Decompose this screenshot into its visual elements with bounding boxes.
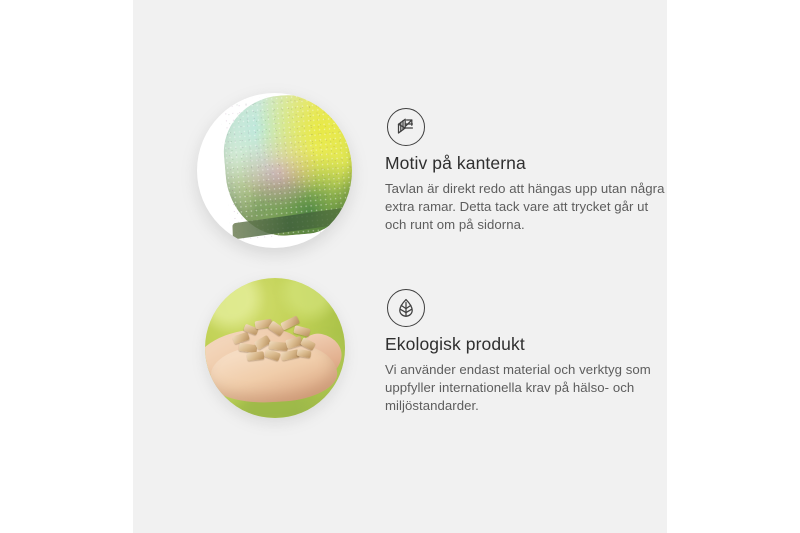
product-feature-banner: Motiv på kanterna Tavlan är direkt redo … <box>0 0 800 533</box>
left-white-band <box>0 0 133 533</box>
leaf-icon <box>387 289 425 327</box>
hands-with-wood-chips-photo <box>205 278 345 418</box>
canvas-print-photo <box>197 93 352 248</box>
feature-title: Ekologisk produkt <box>385 333 665 355</box>
feature-text-canvas-edges: Motiv på kanterna Tavlan är direkt redo … <box>385 152 665 234</box>
wood-chip-pile <box>231 318 323 364</box>
canvas-wrapped-edges-icon <box>387 108 425 146</box>
feature-description: Vi använder endast material och verktyg … <box>385 361 665 415</box>
feature-title: Motiv på kanterna <box>385 152 665 174</box>
canvas-print-artwork <box>219 93 352 240</box>
right-white-band <box>667 0 800 533</box>
content-panel <box>133 0 667 533</box>
feature-description: Tavlan är direkt redo att hängas upp uta… <box>385 180 665 234</box>
feature-text-eco-product: Ekologisk produkt Vi använder endast mat… <box>385 333 665 415</box>
